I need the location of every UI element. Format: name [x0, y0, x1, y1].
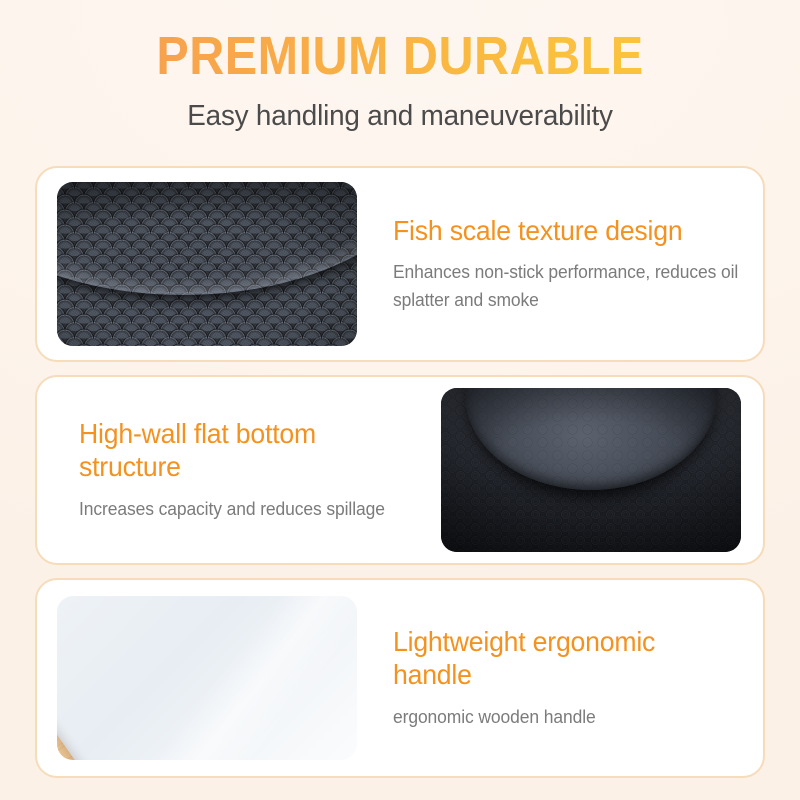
wooden-handle-image	[57, 596, 357, 760]
feature-copy: High-wall flat bottom structure Increase…	[37, 417, 441, 524]
header: PREMIUM DURABLE Easy handling and maneuv…	[0, 0, 800, 133]
feature-description: Enhances non-stick performance, reduces …	[393, 259, 738, 314]
feature-card: High-wall flat bottom structure Increase…	[35, 375, 765, 565]
feature-card: Fish scale texture design Enhances non-s…	[35, 166, 765, 362]
infographic-page: PREMIUM DURABLE Easy handling and maneuv…	[0, 0, 800, 800]
feature-title: Lightweight ergonomic handle	[393, 625, 731, 692]
page-subtitle: Easy handling and maneuverability	[16, 100, 784, 133]
feature-copy: Fish scale texture design Enhances non-s…	[357, 214, 763, 314]
feature-title: Fish scale texture design	[393, 214, 731, 248]
wooden-handle-shaft	[57, 596, 114, 760]
high-wall-flat-bottom-image	[441, 388, 741, 552]
image-vignette	[441, 388, 741, 552]
fish-scale-texture-image	[57, 182, 357, 346]
feature-card-list: Fish scale texture design Enhances non-s…	[35, 166, 765, 791]
feature-description: Increases capacity and reduces spillage	[79, 496, 411, 523]
image-vignette	[57, 182, 357, 346]
image-sheen	[57, 596, 357, 760]
wood-grain-layer	[57, 596, 114, 760]
feature-title: High-wall flat bottom structure	[79, 417, 404, 484]
feature-description: ergonomic wooden handle	[393, 704, 738, 731]
feature-card: Lightweight ergonomic handle ergonomic w…	[35, 578, 765, 778]
feature-copy: Lightweight ergonomic handle ergonomic w…	[357, 625, 763, 732]
page-title: PREMIUM DURABLE	[40, 28, 760, 84]
